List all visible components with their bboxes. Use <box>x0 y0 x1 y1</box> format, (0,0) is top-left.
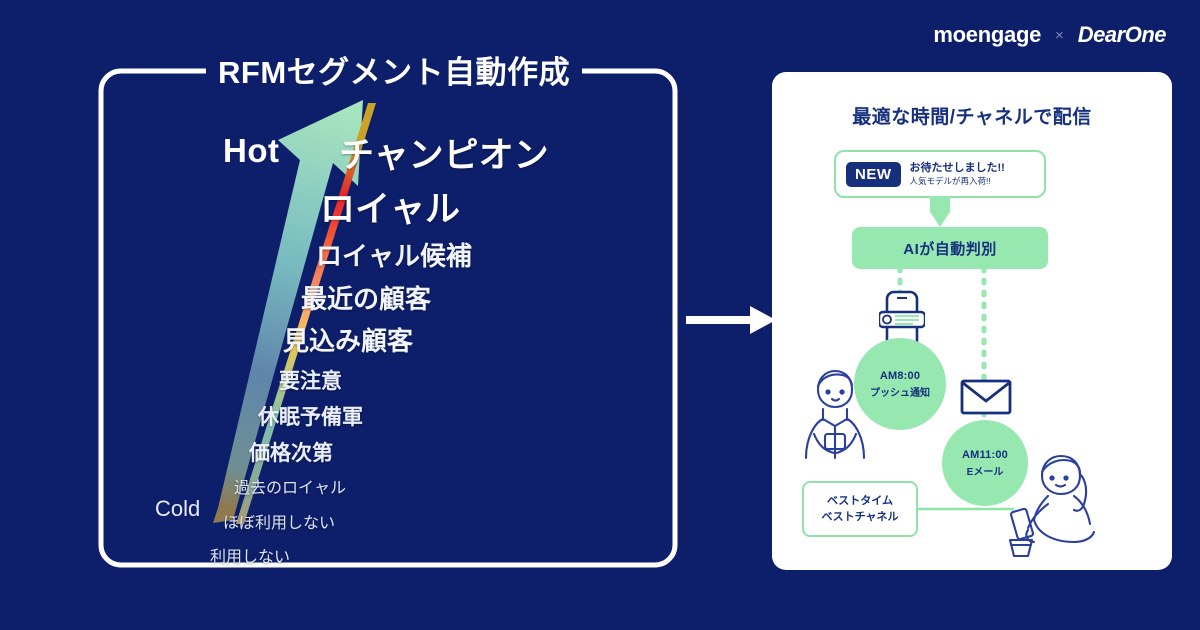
channel-name: プッシュ通知 <box>870 384 930 399</box>
segment-label: ほぼ利用しない <box>223 516 335 532</box>
ai-auto-detection-box: AIが自動判別 <box>852 227 1048 269</box>
logo-separator-x-icon: × <box>1055 27 1064 44</box>
channel-time: AM11:00 <box>962 449 1008 461</box>
dearone-logo: DearOne <box>1078 22 1166 48</box>
segment-label: 要注意 <box>279 371 342 392</box>
channel-time: AM8:00 <box>880 370 920 382</box>
segment-label: 最近の顧客 <box>301 286 431 312</box>
segment-label: ロイャル候補 <box>316 243 472 269</box>
notification-headline: お待たせしました!! <box>910 162 1005 176</box>
flow-arrow-right-icon <box>686 303 778 337</box>
cold-label: Cold <box>155 496 200 522</box>
push-notification-preview: NEW お待たせしました!! 人気モデルが再入荷!! <box>834 150 1046 198</box>
segment-label: 見込み顧客 <box>283 328 413 354</box>
notification-subline: 人気モデルが再入荷!! <box>910 176 1005 187</box>
best-box-line2: ベストチャネル <box>821 509 898 526</box>
best-box-connector-line <box>916 496 1046 522</box>
segment-label: チャンピオン <box>339 138 549 173</box>
segment-label: 休眠予備軍 <box>258 407 363 428</box>
envelope-icon <box>960 378 1012 416</box>
best-time-channel-box: ベストタイム ベストチャネル <box>802 481 918 537</box>
segment-label: 価格次第 <box>249 443 333 464</box>
delivery-timing-card: 最適な時間/チャネルで配信 NEW お待たせしました!! 人気モデルが再入荷!!… <box>772 72 1172 570</box>
segment-label: 利用しない <box>210 550 290 566</box>
channel-name: Eメール <box>967 463 1004 478</box>
best-box-line1: ベストタイム <box>827 493 893 510</box>
segment-label: ロイャル <box>320 192 460 227</box>
moengage-logo: moengage <box>933 22 1041 48</box>
rfm-segment-panel: RFMセグメント自動作成 <box>98 68 678 568</box>
chevron-down-connector-icon <box>927 196 953 230</box>
new-badge: NEW <box>846 162 901 187</box>
right-panel-title: 最適な時間/チャネルで配信 <box>772 102 1172 129</box>
brand-header: moengage × DearOne <box>933 22 1166 48</box>
segment-label: 過去のロイャル <box>234 481 346 497</box>
illustration-person-with-phone <box>794 364 876 460</box>
hot-label: Hot <box>223 132 279 170</box>
